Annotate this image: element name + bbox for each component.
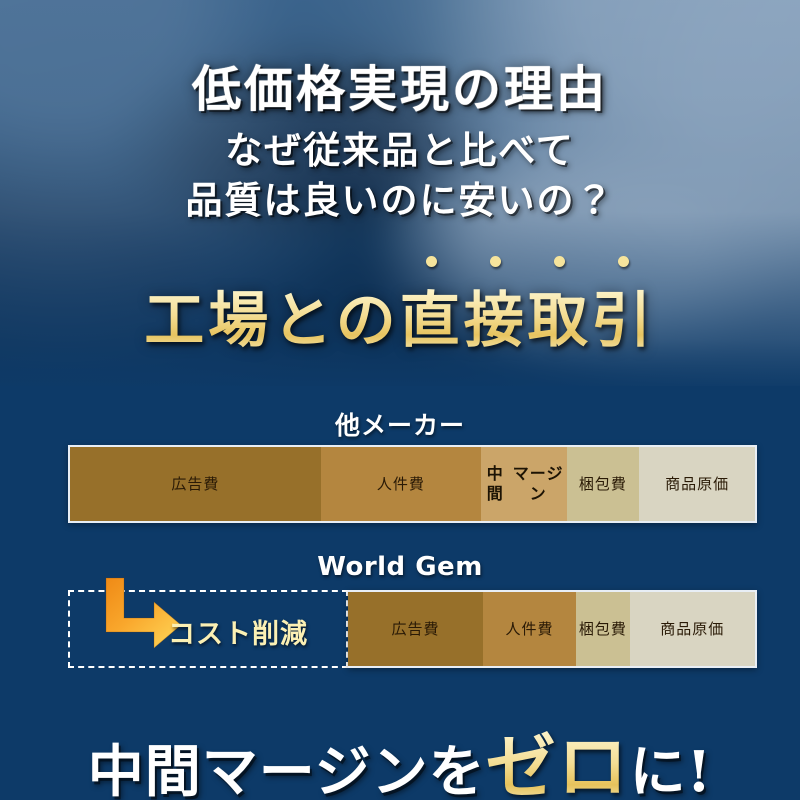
segment-wg-cost: 商品原価 bbox=[630, 592, 755, 666]
footer-text-highlight: ゼロ bbox=[486, 725, 630, 800]
hero-section: 低価格実現の理由 なぜ従来品と比べて 品質は良いのに安いの？ 工場との直接取引 bbox=[0, 0, 800, 386]
gold-headline-emphasized-wrap: 直接取引 bbox=[400, 272, 656, 359]
cost-cut-label: コスト削減 bbox=[168, 612, 308, 651]
footer-headline: 中間マージンをゼロに! bbox=[0, 711, 800, 800]
hero-subtitle: なぜ従来品と比べて 品質は良いのに安いの？ bbox=[0, 126, 800, 226]
bar-label-other-maker: 他メーカー bbox=[0, 406, 800, 442]
footer-text-before: 中間マージンを bbox=[88, 739, 486, 800]
segment-wg-ad: 広告費 bbox=[348, 592, 483, 666]
gold-headline-plain: 工場との bbox=[144, 286, 399, 356]
page-title: 低価格実現の理由 bbox=[0, 50, 800, 121]
segment-other-middle-margin: 中間マージン bbox=[481, 447, 567, 521]
footer-section: 中間マージンをゼロに! bbox=[0, 697, 800, 800]
segment-wg-labor: 人件費 bbox=[483, 592, 576, 666]
gold-headline-emphasized: 直接取引 bbox=[400, 286, 656, 356]
segment-other-packaging: 梱包費 bbox=[567, 447, 640, 521]
footer-text-after: に! bbox=[630, 739, 713, 800]
hero-subtitle-line-2: 品質は良いのに安いの？ bbox=[0, 176, 800, 226]
bar-world-gem: 広告費 人件費 梱包費 商品原価 bbox=[348, 590, 757, 668]
infographic-page: 低価格実現の理由 なぜ従来品と比べて 品質は良いのに安いの？ 工場との直接取引 … bbox=[0, 0, 800, 800]
bar-other-maker: 広告費 人件費 中間マージン 梱包費 商品原価 bbox=[68, 445, 757, 523]
segment-other-labor: 人件費 bbox=[321, 447, 481, 521]
cost-comparison-chart: 他メーカー 広告費 人件費 中間マージン 梱包費 商品原価 World Gem bbox=[0, 386, 800, 697]
segment-other-cost: 商品原価 bbox=[639, 447, 755, 521]
emphasis-dots bbox=[400, 256, 656, 267]
gold-headline: 工場との直接取引 bbox=[0, 272, 800, 359]
segment-other-ad: 広告費 bbox=[70, 447, 321, 521]
hero-subtitle-line-1: なぜ従来品と比べて bbox=[0, 126, 800, 176]
segment-wg-packaging: 梱包費 bbox=[576, 592, 629, 666]
